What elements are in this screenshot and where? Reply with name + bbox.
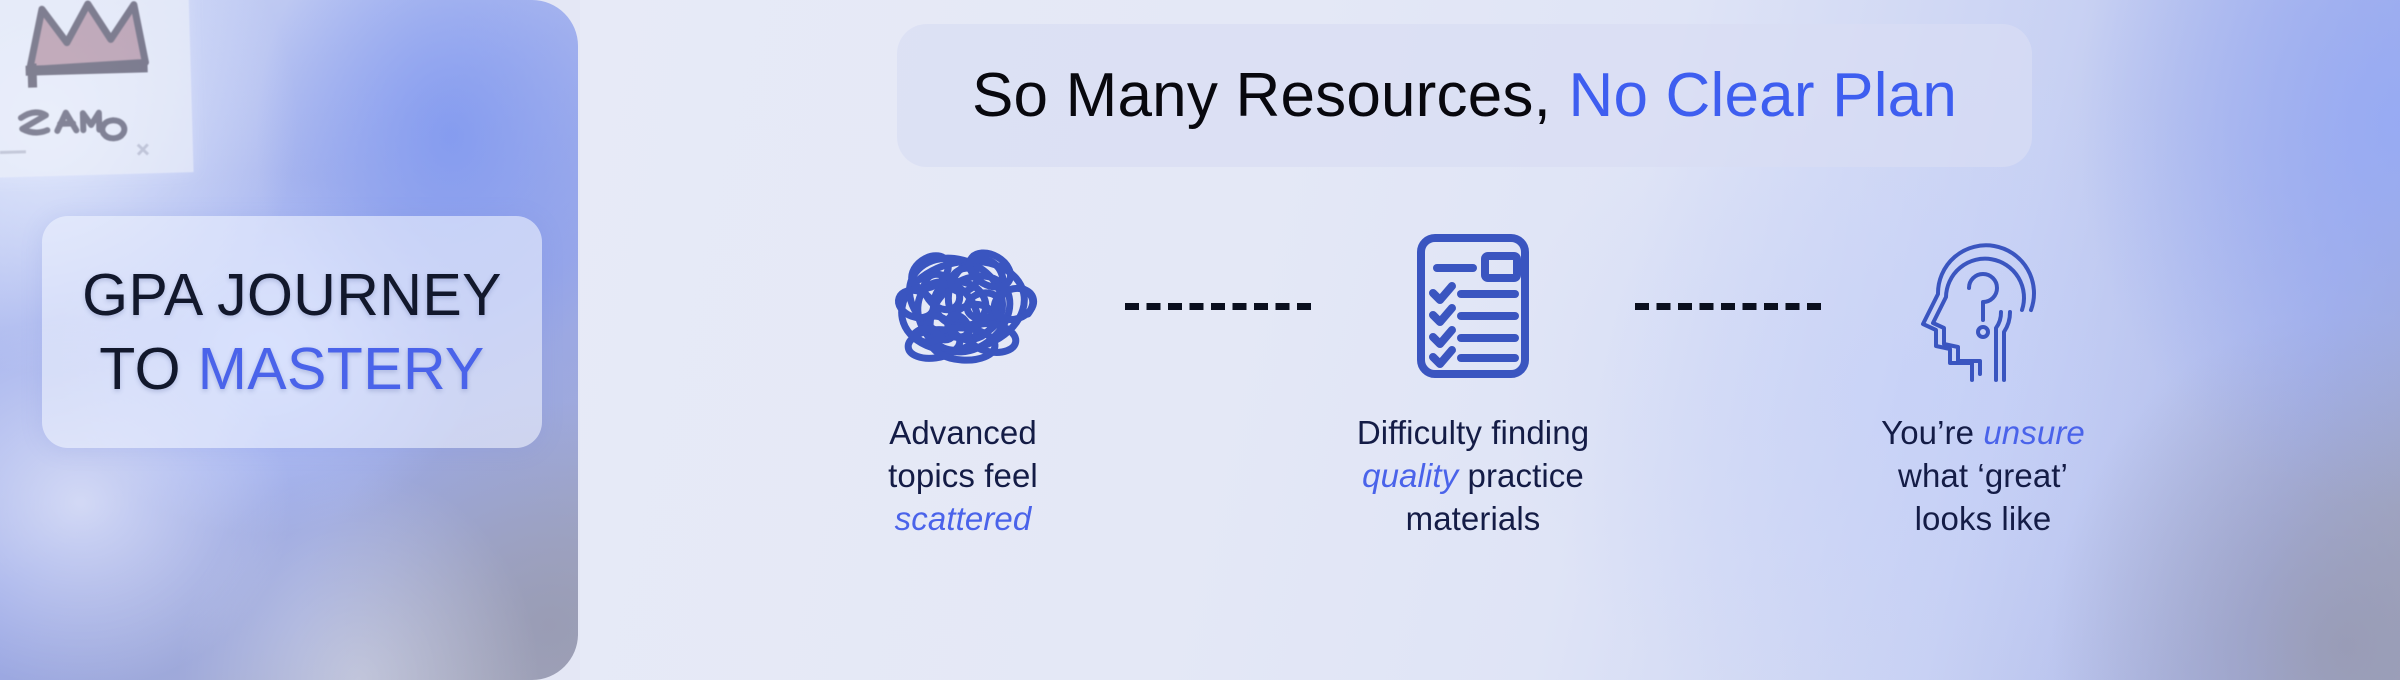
caption-line-1: Difficulty finding [1357,414,1589,451]
caption-line-3-emphasis: scattered [895,500,1032,537]
dashed-connector-1 [1118,232,1318,380]
headline-plain: So Many Resources, [972,61,1551,130]
caption-line-3: materials [1406,500,1541,537]
flow-step-caption: Advanced topics feel scattered [888,412,1038,541]
samo-crown-graffiti-icon [0,0,194,178]
pain-point-flow: Advanced topics feel scattered [808,232,2138,541]
hero-title-card: GPA JOURNEY TO MASTERY [42,216,542,448]
headline-accent: No Clear Plan [1551,61,1957,130]
hero-title-line-1: GPA JOURNEY [82,261,502,329]
left-hero-panel: GPA JOURNEY TO MASTERY [0,0,578,680]
caption-line-2-emphasis: quality [1362,457,1458,494]
flow-step-caption: Difficulty finding quality practice mate… [1357,412,1589,541]
headline: So Many Resources, No Clear Plan [972,65,1957,127]
checklist-clipboard-icon [1415,232,1531,380]
tangled-scribble-icon [872,232,1054,380]
caption-line-3: looks like [1915,500,2052,537]
hero-title-line-2: TO MASTERY [99,335,484,403]
flow-step-scattered: Advanced topics feel scattered [808,232,1118,541]
caption-line-1-emphasis: unsure [1983,414,2085,451]
flow-step-caption: You’re unsure what ‘great’ looks like [1881,412,2085,541]
caption-line-2-rest: practice [1458,457,1584,494]
slide-canvas: GPA JOURNEY TO MASTERY So Many Resources… [0,0,2400,680]
head-question-mark-icon [1919,232,2047,380]
right-content-panel: So Many Resources, No Clear Plan [580,0,2400,680]
caption-line-1: Advanced [889,414,1037,451]
caption-line-2: topics feel [888,457,1038,494]
flow-step-unsure: You’re unsure what ‘great’ looks like [1828,232,2138,541]
caption-line-1-pre: You’re [1881,414,1983,451]
hero-title-line-2-plain: TO [99,336,197,402]
dashed-line [1125,303,1311,310]
dashed-connector-2 [1628,232,1828,380]
dashed-line [1635,303,1821,310]
flow-step-materials: Difficulty finding quality practice mate… [1318,232,1628,541]
headline-pill: So Many Resources, No Clear Plan [897,24,2032,167]
caption-line-2: what ‘great’ [1898,457,2068,494]
hero-title-line-2-accent: MASTERY [198,336,485,402]
